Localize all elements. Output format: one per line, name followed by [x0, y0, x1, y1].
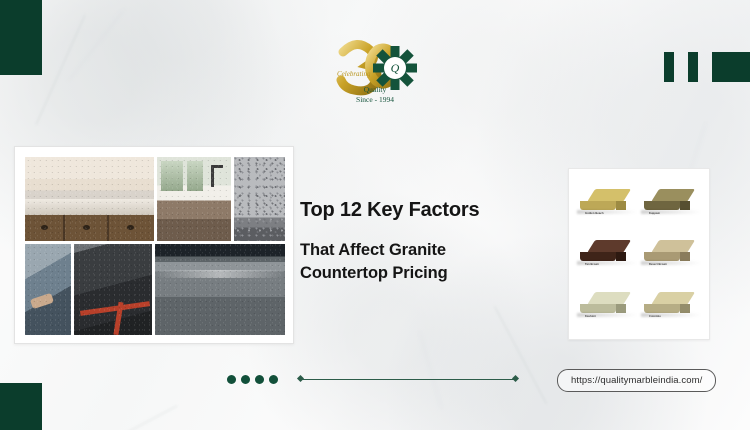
- granite-sample-label: Tan Brown: [585, 263, 599, 266]
- granite-sample: Tan Brown: [575, 228, 639, 279]
- granite-samples-card: Golden BeachKuppamTan BrownDesert BrownK…: [568, 168, 710, 340]
- decor-bar-top-right-2: [688, 52, 698, 82]
- page-subtitle-line-1: That Affect Granite: [300, 239, 550, 262]
- decor-block-bottom-left: [0, 383, 42, 430]
- brand-logo[interactable]: Celebrating Q Quality Since - 1994: [325, 30, 425, 110]
- page-subtitle: That Affect Granite Countertop Pricing: [300, 239, 550, 285]
- decor-dots: [227, 375, 278, 384]
- divider-line: [300, 379, 515, 380]
- granite-sample: Colombo: [639, 280, 703, 331]
- decor-bar-top-right-3: [712, 52, 750, 82]
- granite-sample-block: [651, 189, 693, 211]
- granite-sample-label: Kashmir: [585, 315, 596, 318]
- granite-sample-block: [651, 292, 693, 314]
- granite-sample: Golden Beach: [575, 177, 639, 228]
- decor-dot: [255, 375, 264, 384]
- collage-photo-grey-granite-edge: [234, 157, 285, 241]
- page-subtitle-line-2: Countertop Pricing: [300, 262, 550, 285]
- photo-collage-card: [14, 146, 294, 344]
- decor-dot: [241, 375, 250, 384]
- granite-sample-label: Colombo: [649, 315, 661, 318]
- collage-photo-kitchen-counter: [25, 157, 154, 241]
- svg-text:Celebrating: Celebrating: [337, 70, 371, 78]
- brand-logo-mark: Celebrating Q Quality Since - 1994: [325, 30, 425, 110]
- website-url-pill[interactable]: https://qualitymarbleindia.com/: [557, 369, 716, 392]
- granite-sample-label: Kuppam: [649, 212, 660, 215]
- granite-sample-block: [587, 292, 629, 314]
- granite-sample-label: Golden Beach: [585, 212, 604, 215]
- logo-text-since: Since - 1994: [356, 95, 394, 104]
- decor-bar-top-right-1: [664, 52, 674, 82]
- granite-sample: Kashmir: [575, 280, 639, 331]
- granite-sample-block: [651, 240, 693, 262]
- logo-text-quality: Quality: [364, 85, 387, 94]
- collage-photo-kitchen-island: [157, 157, 231, 241]
- headline-block: Top 12 Key Factors That Affect Granite C…: [300, 198, 550, 285]
- banner-canvas: Celebrating Q Quality Since - 1994: [0, 0, 750, 430]
- collage-photo-polished-counter: [155, 244, 285, 335]
- granite-sample-label: Desert Brown: [649, 263, 667, 266]
- decor-block-top-left: [0, 0, 42, 75]
- decor-dot: [269, 375, 278, 384]
- granite-sample-block: [587, 240, 629, 262]
- granite-sample-block: [587, 189, 629, 211]
- collage-photo-blue-slab: [25, 244, 71, 335]
- page-title: Top 12 Key Factors: [300, 198, 550, 222]
- decor-dot: [227, 375, 236, 384]
- svg-text:Q: Q: [391, 61, 400, 75]
- granite-sample: Kuppam: [639, 177, 703, 228]
- collage-photo-dark-slab-rack: [74, 244, 152, 335]
- granite-sample: Desert Brown: [639, 228, 703, 279]
- website-url-text: https://qualitymarbleindia.com/: [571, 375, 702, 386]
